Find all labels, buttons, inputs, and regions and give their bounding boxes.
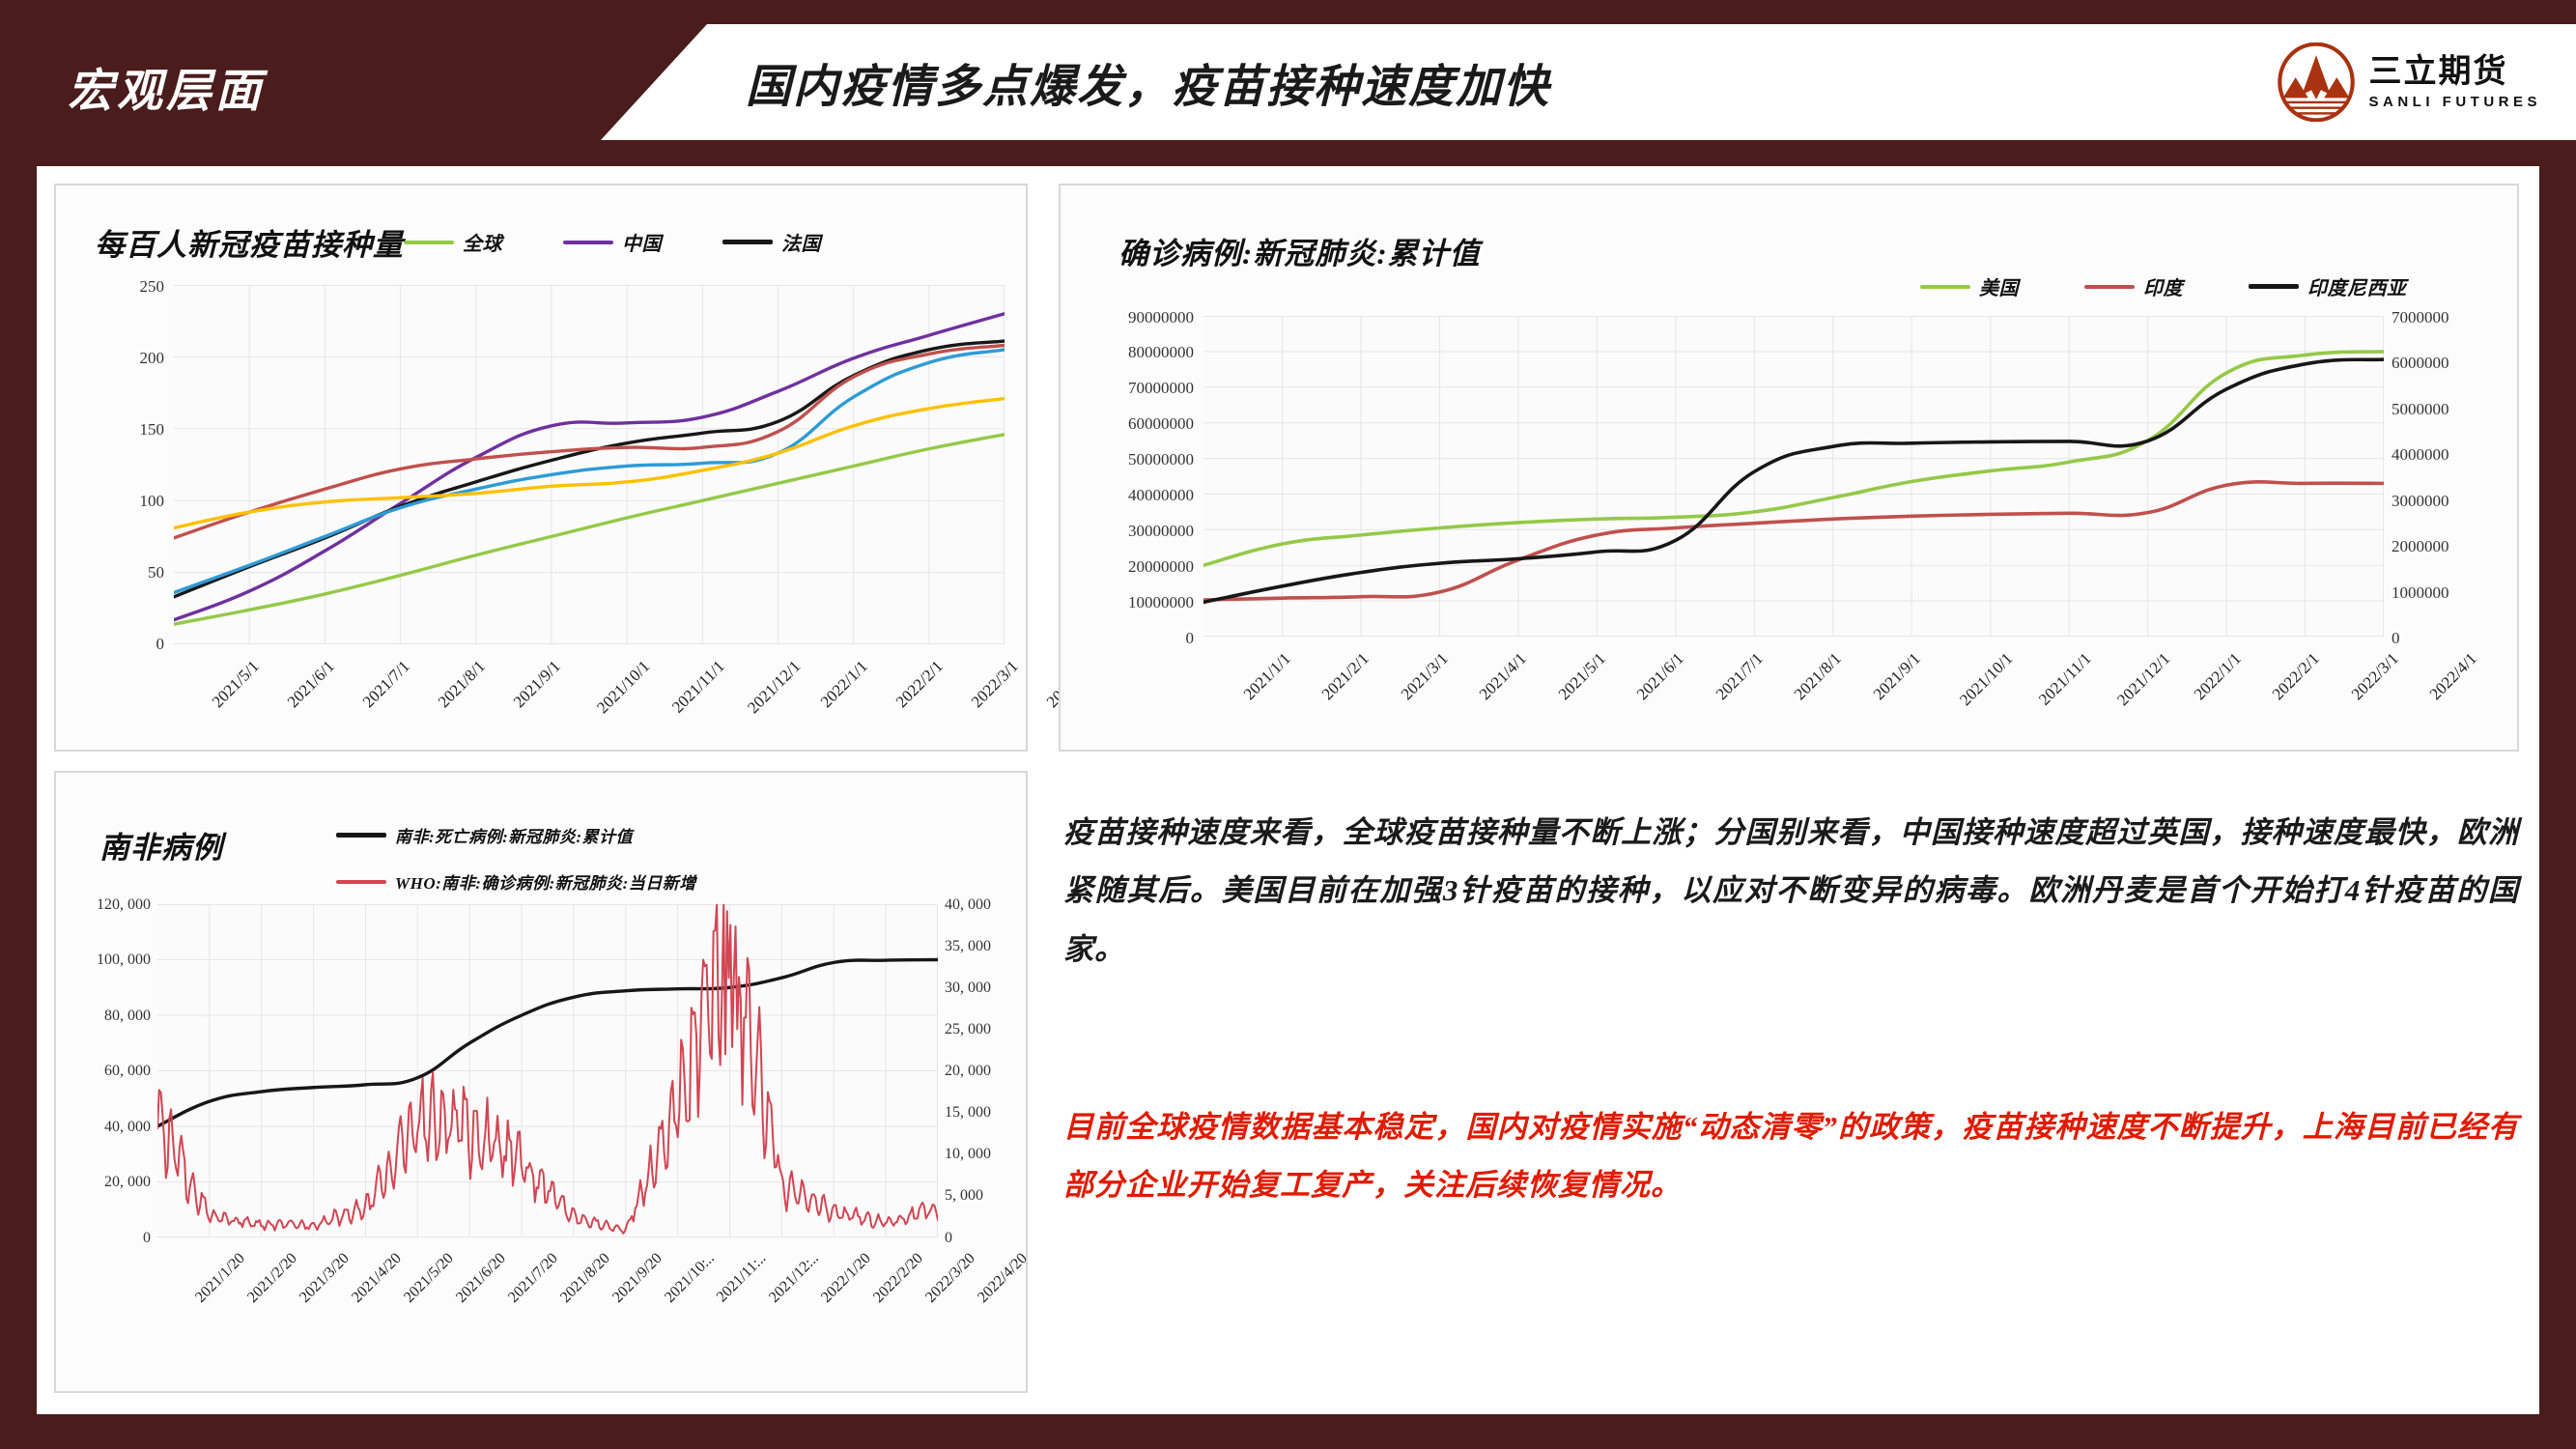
- xtick-sa-11: 2021/12:..: [766, 1250, 823, 1307]
- legend-label-sa-deaths: 南非:死亡病例:新冠肺炎:累计值: [395, 823, 633, 847]
- xtick-sa-5: 2021/6/20: [453, 1250, 510, 1307]
- slide-body: 每百人新冠疫苗接种量 全球 中国 法国 德国 英国: [37, 166, 2539, 1414]
- xtick-sa-0: 2021/1/20: [192, 1250, 249, 1307]
- ytick-vaccination-200: 200: [104, 349, 164, 368]
- ytick-confirmed-right-6m: 6000000: [2392, 354, 2449, 373]
- chart-title-vaccination: 每百人新冠疫苗接种量: [95, 220, 404, 264]
- xtick-sa-7: 2021/8/20: [557, 1250, 614, 1307]
- ytick-confirmed-left-30m: 30000000: [1070, 522, 1194, 541]
- slide-header: 宏观层面 国内疫情多点爆发，疫苗接种速度加快 三立期货 SANLI FUTURE…: [0, 0, 2576, 159]
- logo-name-en: SANLI FUTURES: [2369, 95, 2542, 109]
- ytick-sa-right-5k: 5, 000: [945, 1187, 983, 1205]
- xtick-sa-2: 2021/3/20: [297, 1250, 354, 1307]
- xtick-confirmed-5: 2021/6/1: [1633, 649, 1688, 704]
- section-label: 宏观层面: [68, 53, 265, 120]
- logo-wordmark: 三立期货 SANLI FUTURES: [2369, 55, 2542, 109]
- legend-swatch-france: [722, 240, 773, 244]
- xtick-vaccination-4: 2021/9/1: [510, 657, 565, 712]
- xtick-confirmed-2: 2021/3/1: [1398, 649, 1453, 704]
- ytick-vaccination-50: 50: [104, 563, 164, 582]
- xtick-sa-10: 2021/11:..: [714, 1250, 770, 1306]
- ytick-confirmed-right-4m: 4000000: [2392, 445, 2449, 465]
- xtick-sa-13: 2022/2/20: [870, 1250, 927, 1307]
- legend-label-indonesia-cases: 印度尼西亚: [2307, 272, 2407, 300]
- ytick-sa-left-60k: 60, 000: [56, 1063, 151, 1080]
- ytick-confirmed-right-7m: 7000000: [2392, 308, 2449, 327]
- legend-swatch-usa-cases: [1920, 285, 1970, 289]
- ytick-sa-right-0: 0: [945, 1230, 952, 1247]
- xtick-confirmed-1: 2021/2/1: [1318, 649, 1373, 704]
- legend-label-france: 法国: [781, 228, 821, 256]
- legend-item-confirmed-1[interactable]: 印度: [2084, 272, 2183, 300]
- xtick-vaccination-6: 2021/11/1: [668, 657, 728, 717]
- ytick-sa-right-35k: 35, 000: [945, 938, 991, 955]
- ytick-confirmed-left-20m: 20000000: [1070, 557, 1194, 577]
- chart-card-vaccination: 每百人新冠疫苗接种量 全球 中国 法国 德国 英国: [54, 184, 1028, 752]
- slide-root: 宏观层面 国内疫情多点爆发，疫苗接种速度加快 三立期货 SANLI FUTURE…: [0, 0, 2576, 1449]
- legend-item-sa-1[interactable]: WHO:南非:确诊病例:新冠肺炎:当日新增: [336, 869, 696, 894]
- ytick-confirmed-left-80m: 80000000: [1070, 343, 1194, 362]
- ytick-confirmed-left-70m: 70000000: [1070, 379, 1194, 398]
- xtick-confirmed-3: 2021/4/1: [1476, 649, 1531, 704]
- legend-label-china: 中国: [622, 228, 662, 256]
- ytick-sa-left-80k: 80, 000: [56, 1008, 151, 1025]
- ytick-sa-right-20k: 20, 000: [945, 1063, 991, 1080]
- legend-swatch-china: [563, 241, 613, 244]
- ytick-sa-right-15k: 15, 000: [945, 1104, 991, 1122]
- legend-item-vaccination-1[interactable]: 中国: [563, 228, 662, 256]
- title-banner: 国内疫情多点爆发，疫苗接种速度加快 三立期货 SANLI FUTURES: [601, 24, 2576, 140]
- legend-label-usa-cases: 美国: [1979, 272, 2019, 300]
- xtick-vaccination-1: 2021/6/1: [284, 657, 339, 712]
- ytick-sa-right-10k: 10, 000: [945, 1146, 991, 1163]
- legend-item-confirmed-2[interactable]: 印度尼西亚: [2249, 272, 2407, 300]
- xtick-sa-12: 2022/1/20: [818, 1250, 875, 1307]
- chart-card-south-africa: 南非病例 南非:死亡病例:新冠肺炎:累计值 WHO:南非:确诊病例:新冠肺炎:当…: [54, 771, 1028, 1393]
- xtick-confirmed-14: 2022/3/1: [2348, 649, 2403, 704]
- xtick-sa-4: 2021/5/20: [401, 1250, 458, 1307]
- chart-title-confirmed: 确诊病例:新冠肺炎:累计值: [1118, 229, 1481, 272]
- ytick-sa-left-0: 0: [56, 1230, 151, 1247]
- company-logo: 三立期货 SANLI FUTURES: [2277, 43, 2542, 122]
- xtick-sa-6: 2021/7/20: [505, 1250, 562, 1307]
- legend-label-sa-newcases: WHO:南非:确诊病例:新冠肺炎:当日新增: [395, 869, 696, 894]
- legend-swatch-sa-newcases: [336, 880, 386, 884]
- ytick-confirmed-left-50m: 50000000: [1070, 450, 1194, 469]
- xtick-vaccination-7: 2021/12/1: [744, 657, 805, 718]
- ytick-confirmed-right-5m: 5000000: [2392, 400, 2449, 419]
- xtick-sa-9: 2021/10:..: [662, 1250, 719, 1307]
- ytick-vaccination-100: 100: [104, 492, 164, 511]
- logo-name-cn: 三立期货: [2369, 55, 2508, 88]
- legend-swatch-global: [404, 241, 454, 244]
- legend-swatch-india-cases: [2084, 285, 2135, 289]
- xtick-vaccination-3: 2021/8/1: [435, 657, 490, 712]
- ytick-vaccination-250: 250: [104, 277, 164, 297]
- ytick-confirmed-left-40m: 40000000: [1070, 486, 1194, 505]
- xtick-confirmed-12: 2022/1/1: [2191, 649, 2246, 704]
- xtick-sa-1: 2021/2/20: [244, 1250, 301, 1307]
- xtick-confirmed-6: 2021/7/1: [1713, 649, 1768, 704]
- legend-item-confirmed-0[interactable]: 美国: [1920, 272, 2019, 300]
- chart-card-confirmed: 确诊病例:新冠肺炎:累计值 美国 印度 印度尼西亚 90000000 80000…: [1059, 184, 2519, 752]
- xtick-vaccination-2: 2021/7/1: [359, 657, 414, 712]
- chart-title-south-africa: 南非病例: [99, 823, 223, 867]
- ytick-confirmed-left-0: 0: [1070, 629, 1194, 648]
- legend-label-india-cases: 印度: [2143, 272, 2183, 300]
- plot-area-vaccination: [174, 285, 1005, 644]
- ytick-sa-right-40k: 40, 000: [945, 896, 991, 914]
- ytick-sa-right-30k: 30, 000: [945, 980, 991, 997]
- xtick-confirmed-7: 2021/8/1: [1791, 649, 1846, 704]
- xtick-sa-14: 2022/3/20: [922, 1250, 979, 1307]
- plot-area-confirmed: [1203, 316, 2384, 637]
- ytick-sa-left-120k: 120, 000: [56, 896, 151, 914]
- xtick-sa-3: 2021/4/20: [349, 1250, 406, 1307]
- ytick-sa-left-100k: 100, 000: [56, 952, 151, 969]
- legend-swatch-indonesia-cases: [2249, 284, 2299, 289]
- xtick-confirmed-15: 2022/4/1: [2426, 649, 2481, 704]
- ytick-sa-left-40k: 40, 000: [56, 1119, 151, 1136]
- xtick-confirmed-10: 2021/11/1: [2035, 649, 2095, 709]
- ytick-confirmed-right-3m: 3000000: [2392, 492, 2449, 511]
- ytick-confirmed-right-1m: 1000000: [2392, 583, 2449, 603]
- ytick-confirmed-left-90m: 90000000: [1070, 308, 1194, 327]
- ytick-confirmed-right-2m: 2000000: [2392, 537, 2449, 556]
- ytick-vaccination-0: 0: [104, 635, 164, 654]
- plot-area-south-africa: [157, 904, 938, 1237]
- xtick-confirmed-9: 2021/10/1: [1956, 649, 2017, 710]
- legend-label-global: 全球: [463, 228, 502, 256]
- commentary-red: 目前全球疫情数据基本稳定，国内对疫情实施“动态清零”的政策，疫苗接种速度不断提升…: [1063, 1098, 2519, 1215]
- xtick-vaccination-0: 2021/5/1: [209, 657, 264, 712]
- xtick-sa-15: 2022/4/20: [975, 1250, 1032, 1307]
- xtick-vaccination-10: 2022/3/1: [968, 657, 1023, 712]
- xtick-confirmed-13: 2022/2/1: [2269, 649, 2324, 704]
- page-title: 国内疫情多点爆发，疫苗接种速度加快: [746, 49, 1550, 116]
- xtick-vaccination-5: 2021/10/1: [593, 657, 654, 718]
- ytick-sa-right-25k: 25, 000: [945, 1021, 991, 1038]
- sanli-mountain-logo-icon: [2277, 43, 2356, 122]
- xtick-confirmed-4: 2021/5/1: [1555, 649, 1610, 704]
- legend-item-vaccination-0[interactable]: 全球: [404, 228, 502, 256]
- xtick-confirmed-8: 2021/9/1: [1870, 649, 1925, 704]
- xtick-vaccination-8: 2022/1/1: [817, 657, 872, 712]
- ytick-sa-left-20k: 20, 000: [56, 1174, 151, 1191]
- legend-item-sa-0[interactable]: 南非:死亡病例:新冠肺炎:累计值: [336, 823, 633, 847]
- xtick-sa-8: 2021/9/20: [609, 1250, 666, 1307]
- xtick-confirmed-0: 2021/1/1: [1240, 649, 1295, 704]
- ytick-confirmed-right-0: 0: [2392, 629, 2400, 648]
- commentary-black: 疫苗接种速度来看，全球疫苗接种量不断上涨；分国别来看，中国接种速度超过英国，接种…: [1063, 804, 2519, 979]
- ytick-vaccination-150: 150: [104, 420, 164, 440]
- xtick-vaccination-9: 2022/2/1: [892, 657, 948, 712]
- xtick-confirmed-11: 2021/12/1: [2113, 649, 2174, 710]
- legend-item-vaccination-2[interactable]: 法国: [722, 228, 821, 256]
- legend-swatch-sa-deaths: [336, 833, 386, 838]
- ytick-confirmed-left-10m: 10000000: [1070, 593, 1194, 612]
- ytick-confirmed-left-60m: 60000000: [1070, 414, 1194, 434]
